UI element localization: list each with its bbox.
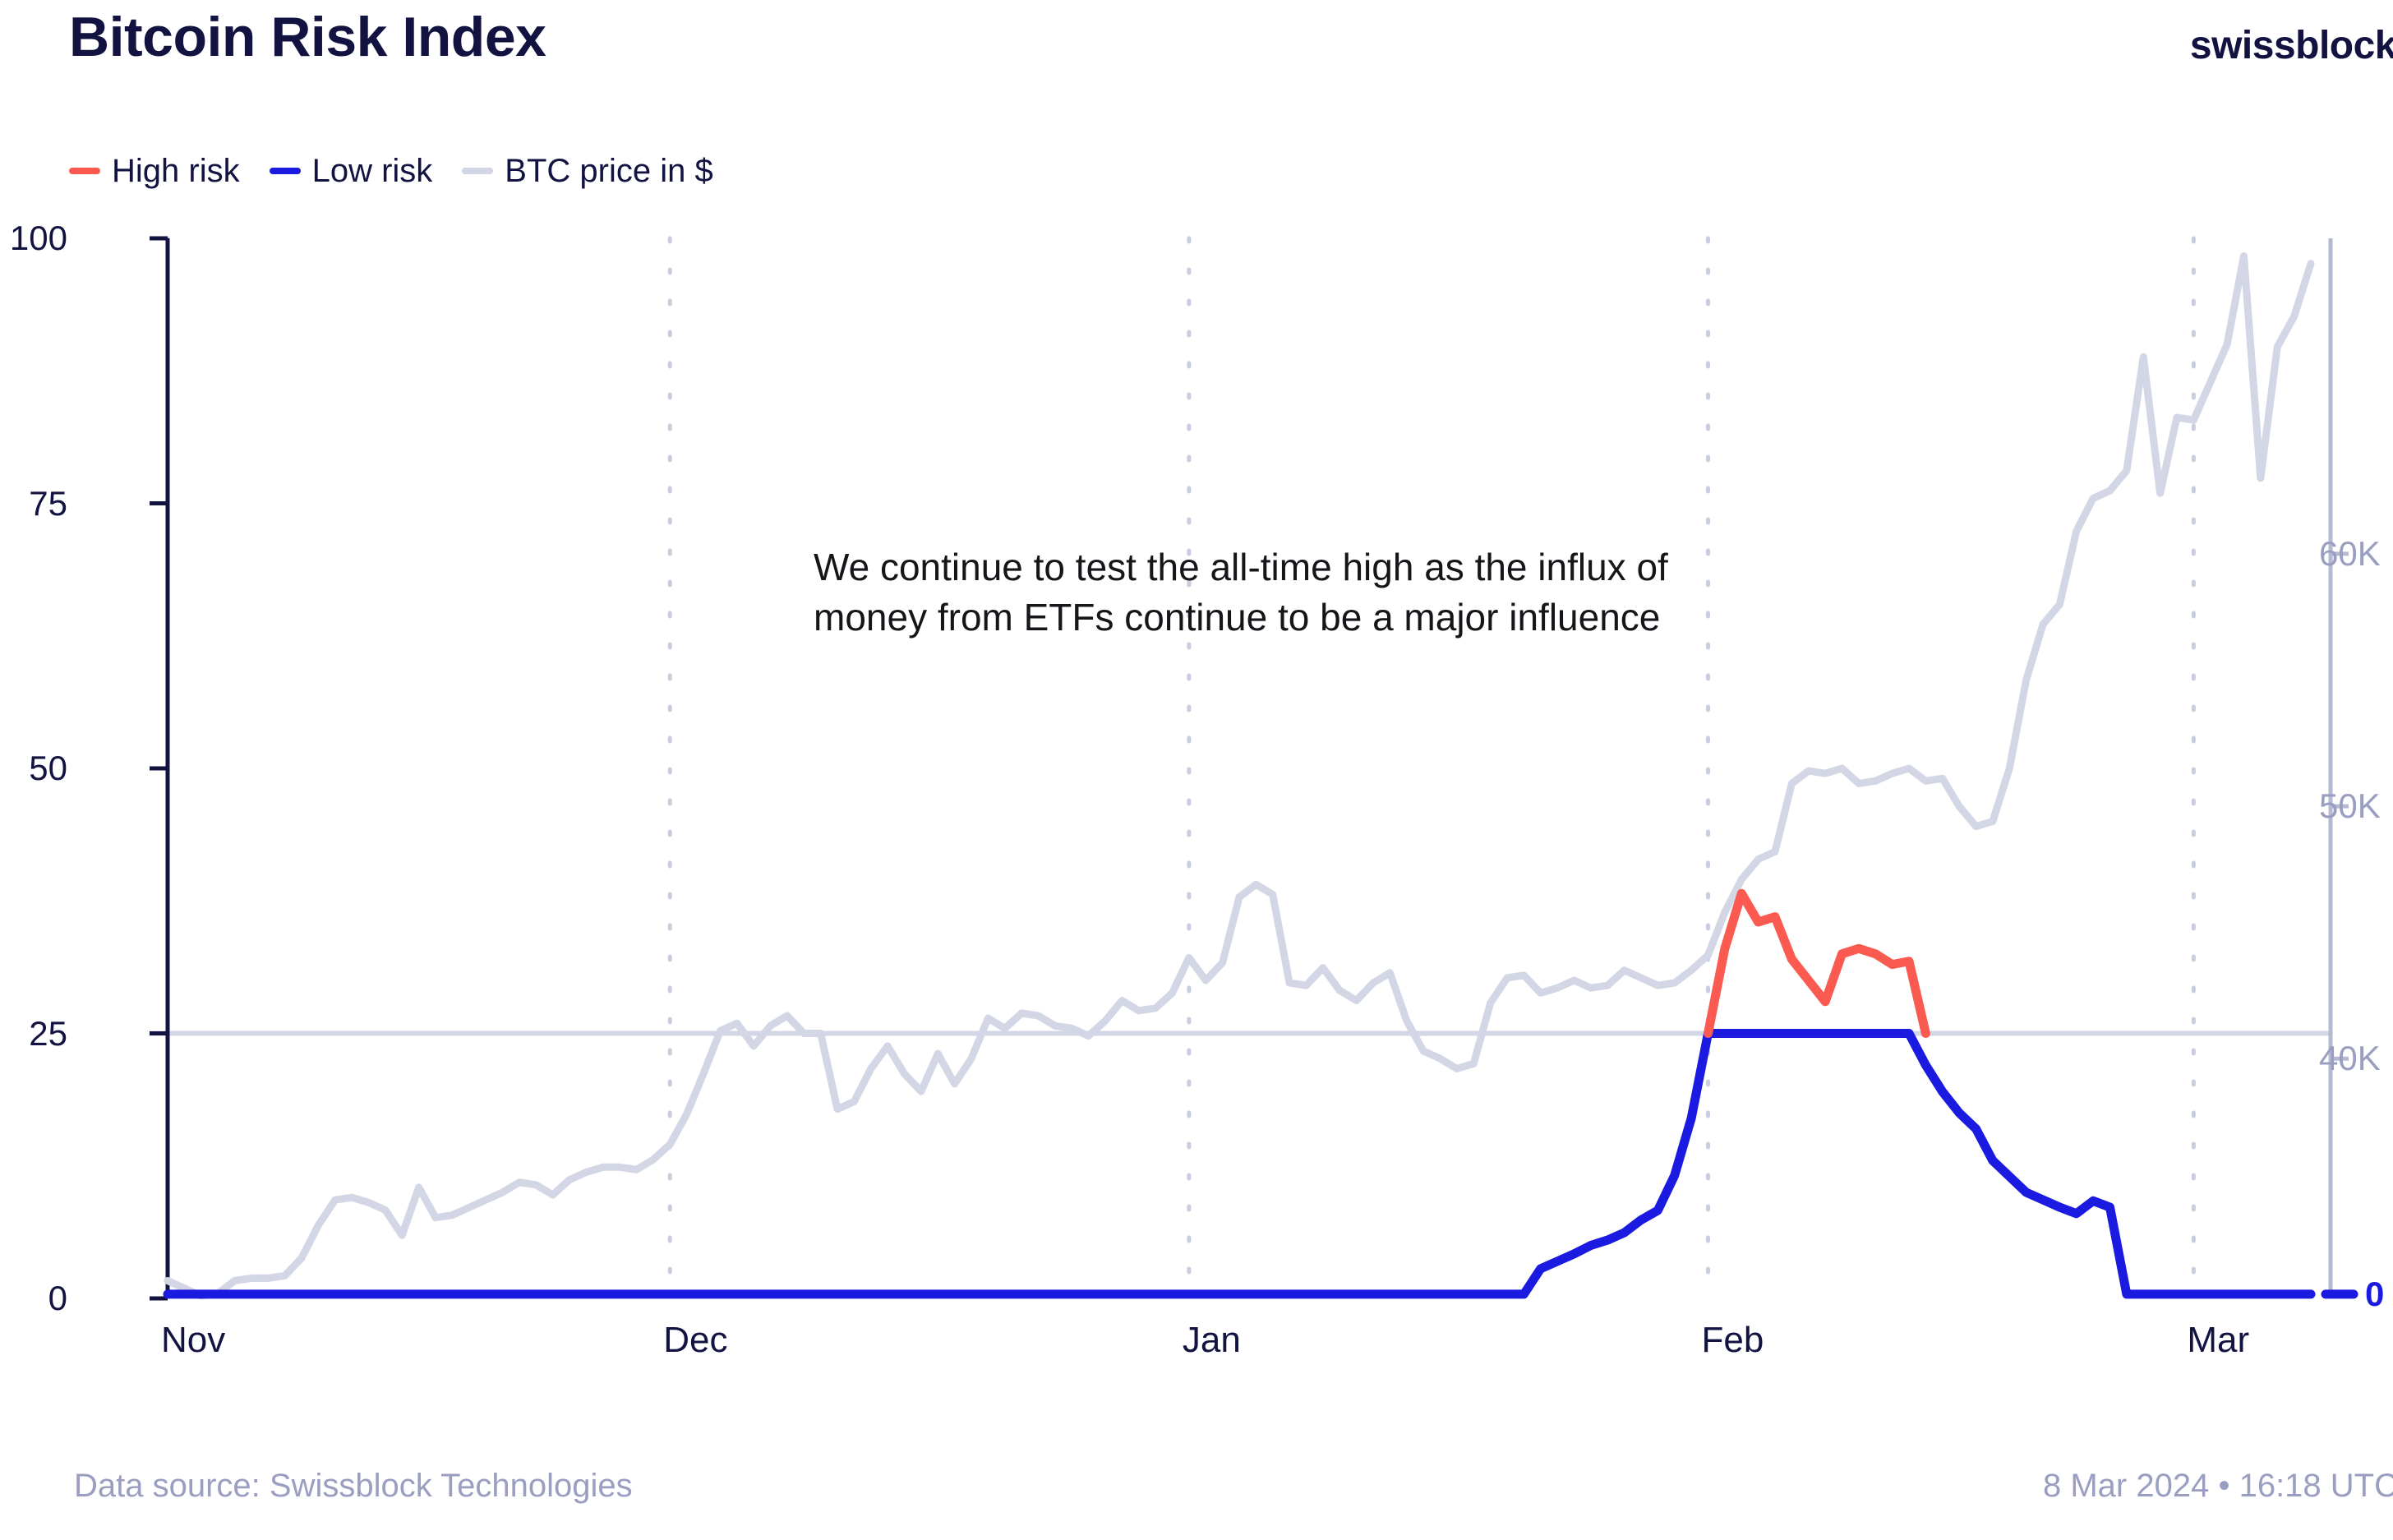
axis-label-left-100: 100: [10, 219, 67, 258]
axis-label-x-jan: Jan: [1183, 1320, 1241, 1361]
legend-item-low-risk[interactable]: Low risk: [270, 153, 433, 190]
chart-annotation: We continue to test the all-time high as…: [814, 542, 1948, 642]
chart-legend: High risk Low risk BTC price in $: [69, 146, 713, 196]
axis-label-left-75: 75: [29, 484, 67, 523]
axis-label-right-60K: 60K: [2319, 534, 2381, 574]
line-swatch-icon: [462, 168, 493, 174]
series-line-high-risk: [1708, 893, 1926, 1033]
chart-header: Bitcoin Risk Index swissblock: [0, 0, 2393, 90]
axis-label-right-50K: 50K: [2319, 786, 2381, 826]
axis-label-right-40K: 40K: [2319, 1039, 2381, 1078]
page-title: Bitcoin Risk Index: [69, 5, 546, 69]
data-source-label: Data source: Swissblock Technologies: [74, 1468, 633, 1505]
legend-item-btc-price[interactable]: BTC price in $: [462, 153, 712, 190]
axis-label-left-50: 50: [29, 749, 67, 788]
series-line-btc-price-in: [168, 256, 2311, 1296]
chart-svg: [0, 230, 2393, 1323]
annotation-line-1: We continue to test the all-time high as…: [814, 542, 1948, 592]
axis-label-x-dec: Dec: [663, 1320, 727, 1361]
annotation-line-2: money from ETFs continue to be a major i…: [814, 592, 1948, 643]
chart-plot-area: [0, 230, 2393, 1323]
legend-item-high-risk[interactable]: High risk: [69, 153, 240, 190]
legend-label: High risk: [112, 153, 240, 190]
series-line-low-risk: [168, 1034, 2311, 1294]
axis-label-x-mar: Mar: [2187, 1320, 2249, 1361]
timestamp-label: 8 Mar 2024 • 16:18 UTC: [2043, 1468, 2393, 1505]
legend-label: BTC price in $: [505, 153, 712, 190]
axis-label-left-0: 0: [48, 1279, 67, 1318]
legend-label: Low risk: [312, 153, 433, 190]
line-swatch-icon: [69, 168, 100, 174]
brand-logo: swissblock: [2190, 23, 2393, 68]
axis-label-left-25: 25: [29, 1014, 67, 1054]
axis-label-right-zero-marker: 0: [2365, 1275, 2384, 1314]
line-swatch-icon: [270, 168, 301, 174]
axis-label-x-feb: Feb: [1702, 1320, 1764, 1361]
axis-label-x-nov: Nov: [161, 1320, 225, 1361]
